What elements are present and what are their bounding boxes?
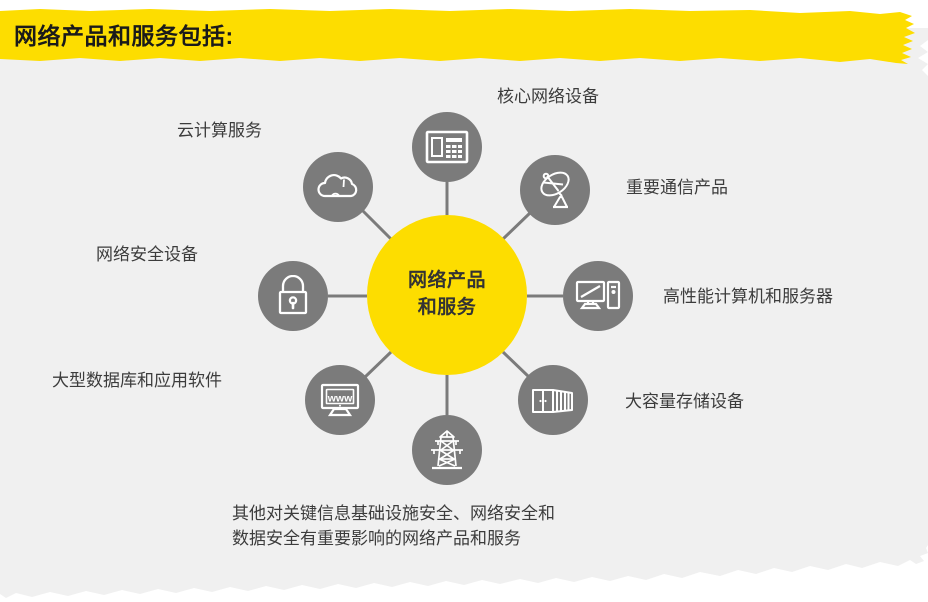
svg-text:www: www <box>327 392 353 404</box>
cloud-icon <box>315 171 361 203</box>
label-line-2: 数据安全有重要影响的网络产品和服务 <box>232 527 555 552</box>
satellite-dish-icon <box>534 169 576 211</box>
node-important-communication-products[interactable] <box>520 155 590 225</box>
infographic-canvas: 网络产品和服务包括: 网络产品 和服务 <box>0 0 928 602</box>
label-core-network-equipment: 核心网络设备 <box>497 85 599 110</box>
node-network-security-equipment[interactable] <box>258 261 328 331</box>
www-monitor-icon: www <box>319 382 361 418</box>
spoke-bottom-left <box>364 352 391 378</box>
label-high-performance-computers-servers: 高性能计算机和服务器 <box>663 285 833 310</box>
node-cloud-computing-services[interactable] <box>303 152 373 222</box>
label-large-database-application-software: 大型数据库和应用软件 <box>52 369 222 394</box>
power-tower-icon <box>427 428 467 472</box>
node-core-network-equipment[interactable] <box>412 112 482 182</box>
node-large-capacity-storage[interactable] <box>518 365 588 435</box>
hub-circle: 网络产品 和服务 <box>367 215 527 375</box>
label-cloud-computing-services: 云计算服务 <box>177 119 262 144</box>
spoke-bottom-right <box>503 352 529 377</box>
hub-label-line1: 网络产品 <box>408 268 486 295</box>
network-switch-icon <box>425 130 469 164</box>
label-line-1: 其他对关键信息基础设施安全、网络安全和 <box>232 504 555 523</box>
node-large-database-application-software[interactable]: www <box>305 365 375 435</box>
spoke-top-left <box>363 211 391 239</box>
desktop-computer-icon <box>575 278 621 314</box>
padlock-icon <box>275 275 311 317</box>
label-other-critical-infrastructure: 其他对关键信息基础设施安全、网络安全和 数据安全有重要影响的网络产品和服务 <box>232 502 555 551</box>
label-important-communication-products: 重要通信产品 <box>626 176 728 201</box>
node-other-critical-infrastructure[interactable] <box>412 415 482 485</box>
storage-rack-icon <box>530 383 576 417</box>
hub-label-line2: 和服务 <box>418 295 477 322</box>
hub-and-spoke-diagram: 网络产品 和服务 <box>0 0 928 602</box>
label-network-security-equipment: 网络安全设备 <box>96 243 198 268</box>
label-large-capacity-storage: 大容量存储设备 <box>625 390 744 415</box>
spoke-top-right <box>503 213 530 239</box>
banner-title: 网络产品和服务包括: <box>14 17 234 51</box>
node-high-performance-computers-servers[interactable] <box>563 261 633 331</box>
